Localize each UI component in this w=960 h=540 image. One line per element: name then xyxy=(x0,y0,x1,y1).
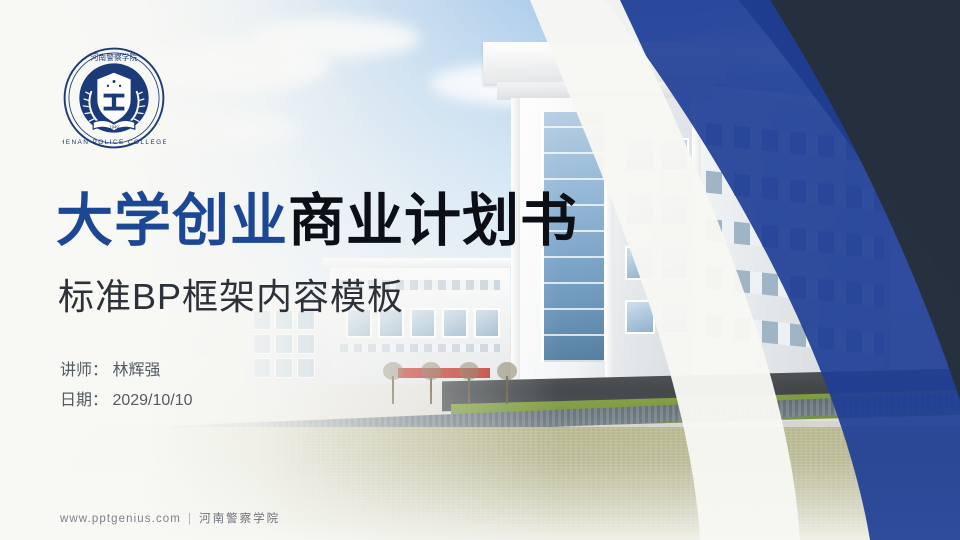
page-title: 大学创业商业计划书 xyxy=(56,193,578,250)
title-highlight: 大学创业 xyxy=(56,189,288,253)
presentation-meta: 讲师： 林辉强 日期： 2029/10/10 xyxy=(60,356,193,415)
svg-text:HENAN POLICE COLLEGE: HENAN POLICE COLLEGE xyxy=(62,139,166,146)
college-logo: 河南警察学院 HENAN POLICE COLLEGE xyxy=(62,46,166,150)
footer: www.pptgenius.com|河南警察学院 xyxy=(60,510,280,526)
svg-text:河南警察学院: 河南警察学院 xyxy=(91,52,138,62)
page-subtitle: 标准BP框架内容模板 xyxy=(58,268,404,320)
footer-organization: 河南警察学院 xyxy=(199,513,280,525)
blue-band-region xyxy=(540,0,960,540)
date-line: 日期： 2029/10/10 xyxy=(60,386,193,416)
footer-url[interactable]: www.pptgenius.com xyxy=(60,513,181,525)
presentation-title-slide: 河南警察学院 HENAN POLICE COLLEGE xyxy=(0,0,960,540)
svg-text:1949: 1949 xyxy=(109,124,119,129)
presenter-line: 讲师： 林辉强 xyxy=(60,356,193,386)
henan-police-college-emblem-icon: 河南警察学院 HENAN POLICE COLLEGE xyxy=(62,46,166,150)
title-rest: 商业计划书 xyxy=(288,189,578,253)
footer-separator: | xyxy=(188,513,192,525)
blue-curve-shape xyxy=(540,0,960,540)
